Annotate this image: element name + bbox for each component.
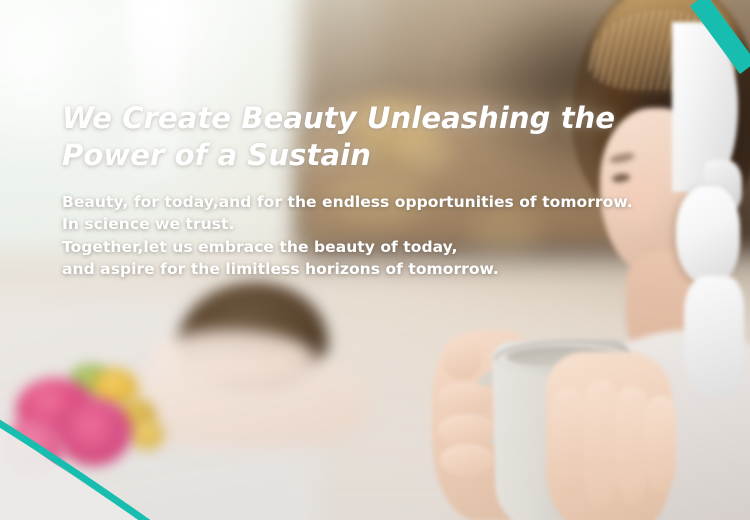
finger [438, 414, 496, 446]
hero-subtext: Beauty, for today,and for the endless op… [62, 174, 702, 281]
pink-flower [4, 418, 64, 478]
finger [552, 388, 586, 496]
hero-copy: We Create Beauty Unleashing the Power of… [62, 100, 702, 281]
finger [442, 336, 482, 380]
blurred-child-arm [150, 330, 310, 382]
finger [584, 380, 618, 508]
finger [616, 386, 648, 504]
pink-flower [56, 398, 132, 466]
finger [646, 396, 676, 492]
finger [438, 382, 494, 416]
hero-banner: We Create Beauty Unleashing the Power of… [0, 0, 750, 520]
finger [440, 444, 494, 476]
flower-bokeh-yellow [130, 420, 164, 450]
page-title: We Create Beauty Unleashing the Power of… [62, 100, 702, 174]
headphone-earcup-lower [684, 276, 744, 396]
